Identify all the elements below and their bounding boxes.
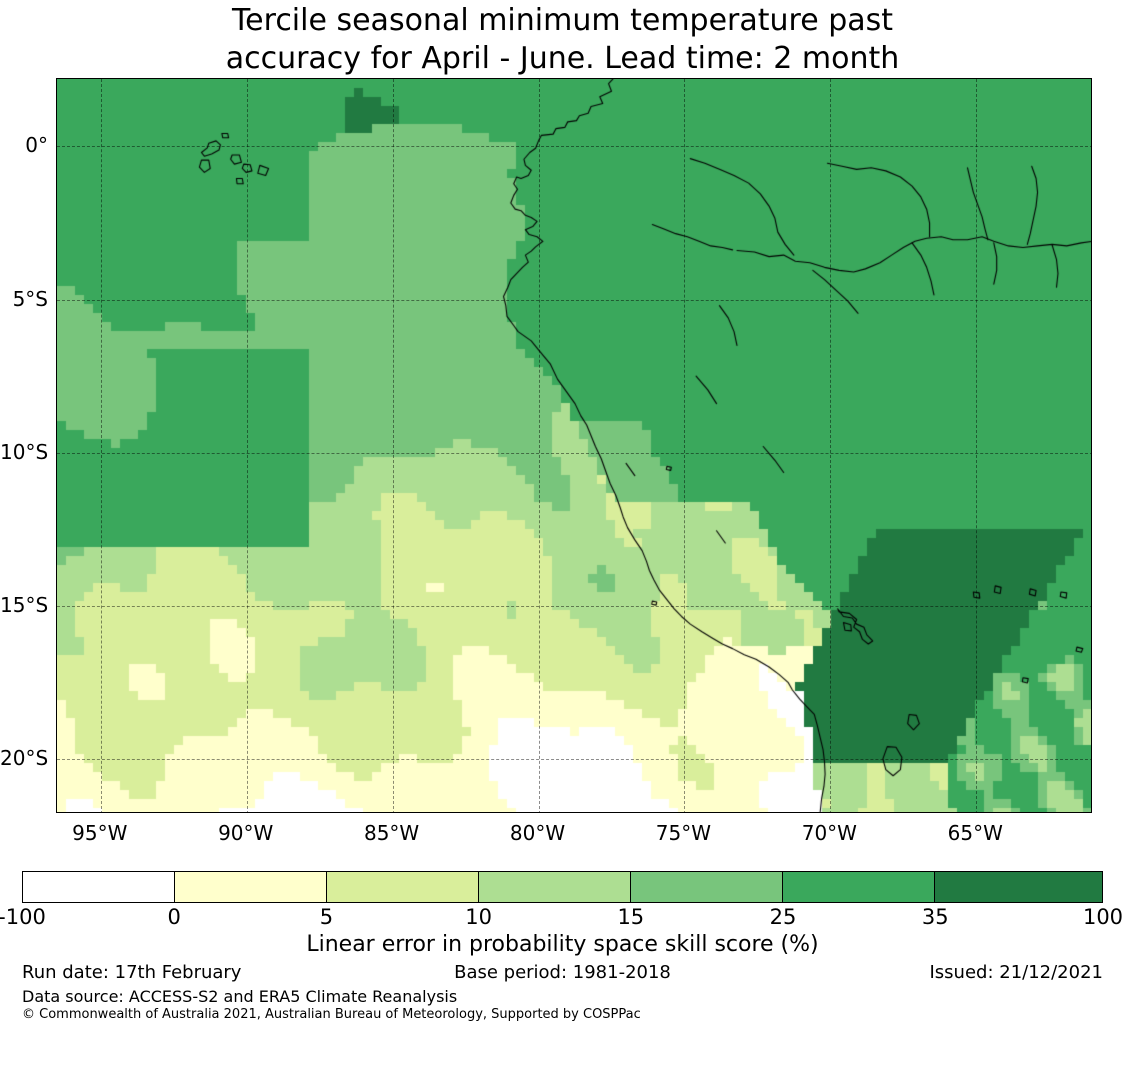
colorbar-segment-3[interactable]: [479, 872, 631, 902]
data-source: Data source: ACCESS-S2 and ERA5 Climate …: [22, 987, 457, 1006]
colorbar-tick-25: 25: [723, 905, 843, 929]
colorbar-segment-1[interactable]: [175, 872, 327, 902]
x-tick-80°W: 80°W: [488, 821, 588, 845]
copyright-notice: © Commonwealth of Australia 2021, Austra…: [22, 1007, 641, 1022]
map-plot-area[interactable]: [56, 78, 1092, 813]
colorbar-segment-2[interactable]: [327, 872, 479, 902]
colorbar-tick-5: 5: [266, 905, 386, 929]
y-tick-20°S: 20°S: [0, 746, 48, 770]
colorbar-tick-10: 10: [419, 905, 539, 929]
x-tick-70°W: 70°W: [779, 821, 879, 845]
y-tick-5°S: 5°S: [0, 287, 48, 311]
colorbar-tick--100: -100: [0, 905, 82, 929]
colorbar-tick-15: 15: [571, 905, 691, 929]
y-tick-10°S: 10°S: [0, 440, 48, 464]
colorbar-segment-5[interactable]: [783, 872, 935, 902]
colorbar-segment-6[interactable]: [935, 872, 1102, 902]
x-tick-95°W: 95°W: [50, 821, 150, 845]
colorbar-tick-0: 0: [114, 905, 234, 929]
colorbar-title: Linear error in probability space skill …: [0, 932, 1125, 957]
x-tick-90°W: 90°W: [196, 821, 296, 845]
y-tick-0°: 0°: [0, 133, 48, 157]
x-tick-65°W: 65°W: [925, 821, 1025, 845]
y-tick-15°S: 15°S: [0, 593, 48, 617]
x-tick-75°W: 75°W: [633, 821, 733, 845]
colorbar[interactable]: [22, 871, 1103, 903]
colorbar-tick-100: 100: [1043, 905, 1125, 929]
footer-row: Run date: 17th February Base period: 198…: [0, 962, 1125, 988]
coastline-overlay: [57, 79, 1092, 813]
x-tick-85°W: 85°W: [342, 821, 442, 845]
colorbar-tick-35: 35: [875, 905, 995, 929]
colorbar-segment-4[interactable]: [631, 872, 783, 902]
issued-date: Issued: 21/12/2021: [929, 962, 1103, 983]
colorbar-segment-0[interactable]: [23, 872, 175, 902]
page-title: Tercile seasonal minimum temperature pas…: [0, 2, 1125, 78]
